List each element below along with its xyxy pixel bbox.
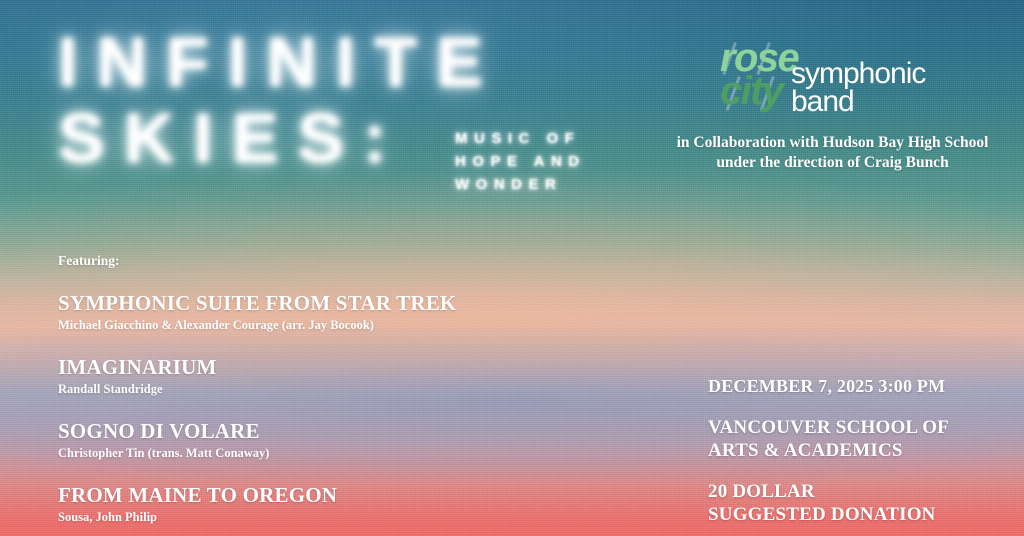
program-work: SYMPHONIC SUITE FROM STAR TREK Michael G…: [58, 291, 478, 334]
concert-poster: INFINITE SKIES: MUSIC OF HOPE AND WONDER…: [0, 0, 1024, 536]
work-composer: Christopher Tin (trans. Matt Conaway): [58, 445, 478, 462]
collaboration-line-1: in Collaboration with Hudson Bay High Sc…: [677, 134, 989, 151]
collaboration-line-2: under the direction of Craig Bunch: [660, 153, 1005, 173]
subtitle-line-2: HOPE AND: [455, 150, 586, 173]
work-composer: Michael Giacchino & Alexander Courage (a…: [58, 317, 478, 334]
work-title: SYMPHONIC SUITE FROM STAR TREK: [58, 291, 478, 315]
logo-word-symphonic: symphonic: [791, 60, 925, 88]
logo-word-band: band: [791, 88, 925, 116]
program-work: IMAGINARIUM Randall Standridge: [58, 355, 478, 398]
program-work: FROM MAINE TO OREGON Sousa, John Philip: [58, 483, 478, 526]
work-composer: Sousa, John Philip: [58, 509, 478, 526]
rose-city-symphonic-band-logo: rose city symphonic band: [676, 40, 976, 122]
title-line-infinite: INFINITE: [58, 22, 502, 102]
title-line-skies: SKIES:: [58, 98, 502, 178]
poster-subtitle: MUSIC OF HOPE AND WONDER: [455, 127, 586, 196]
event-price: 20 DOLLAR SUGGESTED DONATION: [708, 480, 1008, 526]
work-title: SOGNO DI VOLARE: [58, 419, 478, 443]
event-datetime-text: DECEMBER 7, 2025 3:00 PM: [708, 375, 1008, 398]
logo-rose-city-wordmark: rose city: [720, 40, 798, 109]
work-composer: Randall Standridge: [58, 381, 478, 398]
work-title: FROM MAINE TO OREGON: [58, 483, 478, 507]
program-work: SOGNO DI VOLARE Christopher Tin (trans. …: [58, 419, 478, 462]
logo-symphonic-band-wordmark: symphonic band: [791, 60, 925, 116]
event-details: DECEMBER 7, 2025 3:00 PM VANCOUVER SCHOO…: [708, 375, 1008, 526]
program-heading: Featuring:: [58, 253, 478, 269]
event-venue-line-1: VANCOUVER SCHOOL OF: [708, 416, 1008, 439]
collaboration-credit: in Collaboration with Hudson Bay High Sc…: [660, 133, 1005, 173]
event-price-line-2: SUGGESTED DONATION: [708, 503, 1008, 526]
event-datetime: DECEMBER 7, 2025 3:00 PM: [708, 375, 1008, 398]
poster-title: INFINITE SKIES:: [58, 22, 502, 178]
work-title: IMAGINARIUM: [58, 355, 478, 379]
event-venue-line-2: ARTS & ACADEMICS: [708, 439, 1008, 462]
event-price-line-1: 20 DOLLAR: [708, 480, 1008, 503]
event-venue: VANCOUVER SCHOOL OF ARTS & ACADEMICS: [708, 416, 1008, 462]
subtitle-line-1: MUSIC OF: [455, 127, 586, 150]
subtitle-line-3: WONDER: [455, 173, 586, 196]
program-list: Featuring: SYMPHONIC SUITE FROM STAR TRE…: [58, 253, 478, 536]
